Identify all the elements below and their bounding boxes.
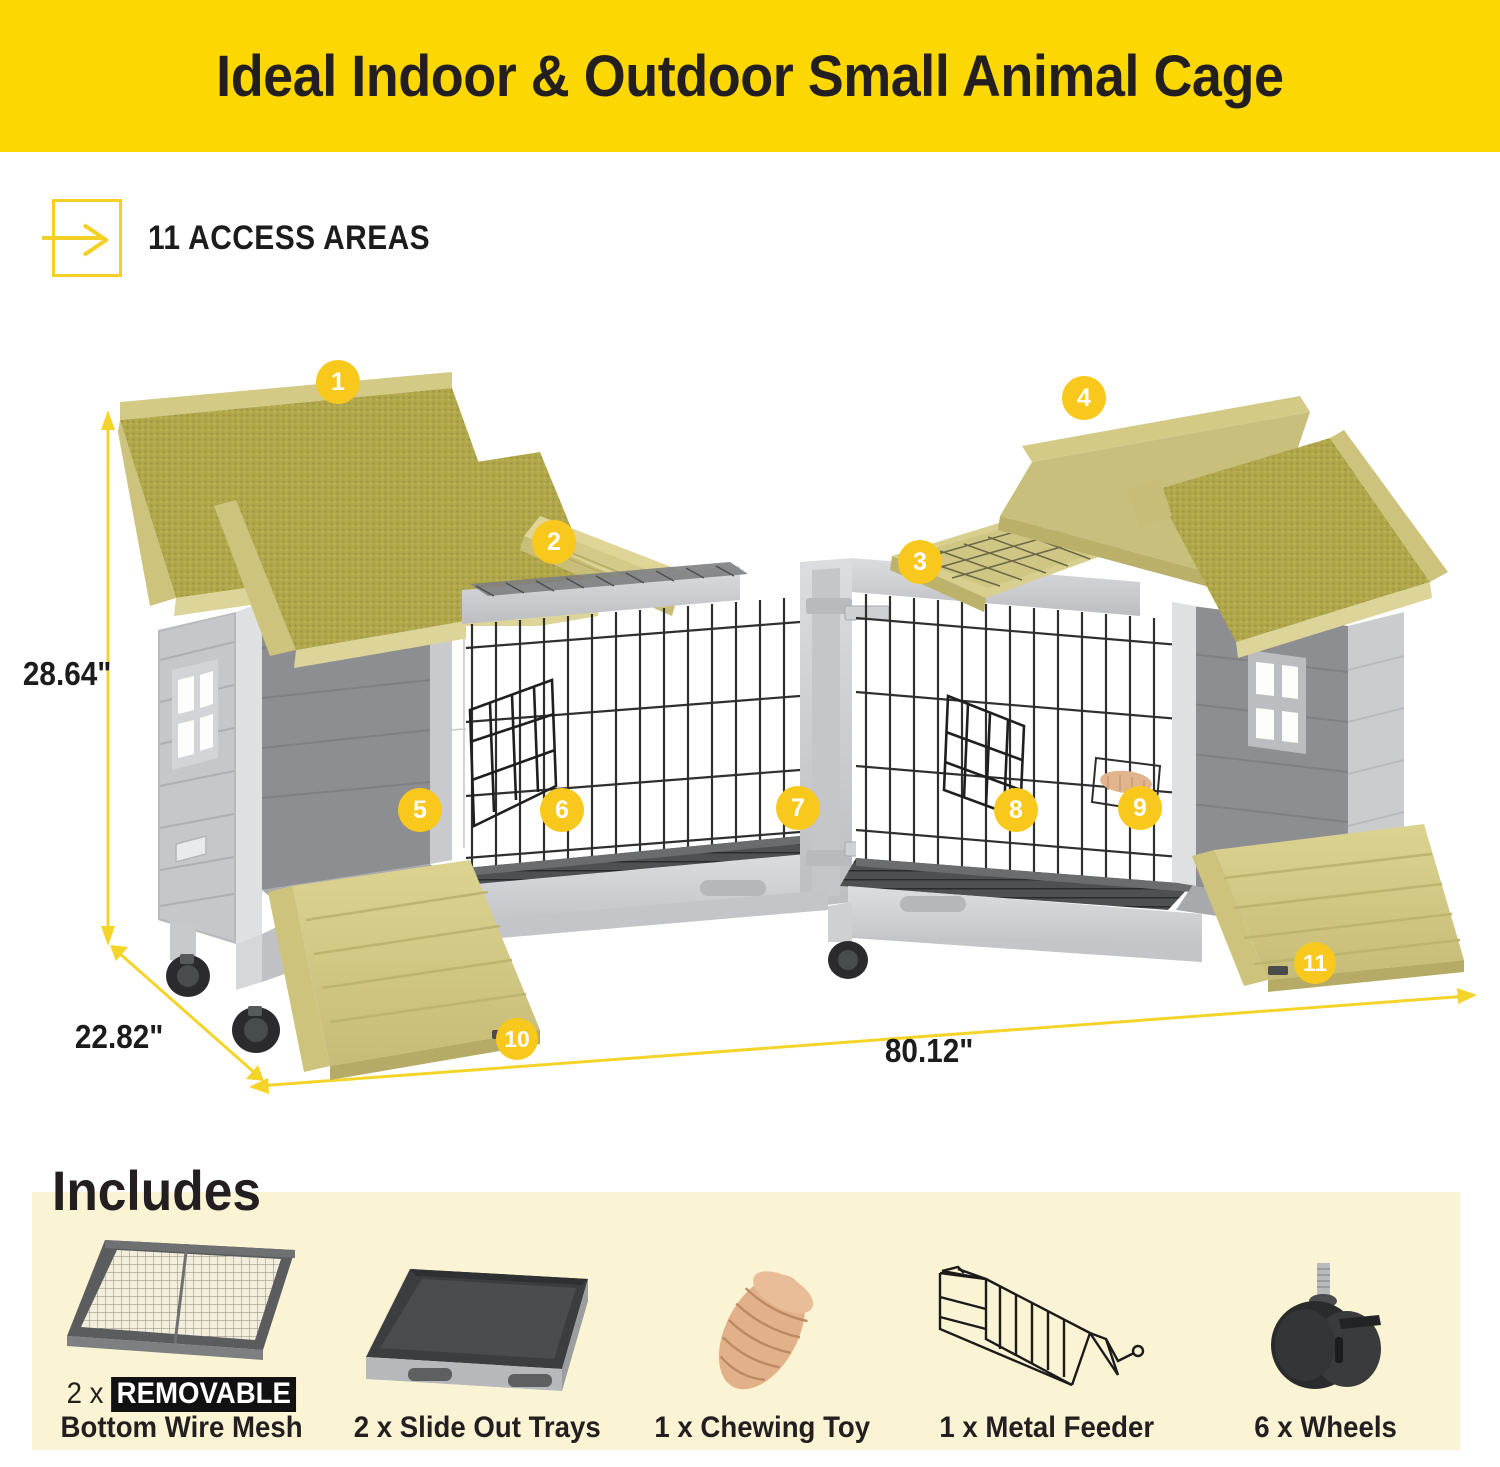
include-item-metal-feeder: 1 x Metal Feeder	[902, 1192, 1192, 1450]
includes-items: 2 x REMOVABLE Bottom Wire Mesh 2 x Slide…	[32, 1192, 1460, 1450]
access-areas-feature: 11 ACCESS AREAS	[42, 198, 469, 278]
arrow-head	[84, 221, 106, 255]
include-caption-slide-tray: 2 x Slide Out Trays	[354, 1412, 601, 1450]
badge-4[interactable]: 4	[1062, 376, 1106, 420]
include-item-slide-tray: 2 x Slide Out Trays	[332, 1192, 622, 1450]
badge-3[interactable]: 3	[898, 540, 942, 584]
caster-wheel	[232, 1006, 280, 1053]
badge-9[interactable]: 9	[1118, 786, 1162, 830]
page-title: Ideal Indoor & Outdoor Small Animal Cage	[216, 43, 1283, 110]
dimension-width: 80.12"	[885, 1032, 973, 1070]
right-window	[1248, 650, 1306, 754]
caster-wheel-icon	[1231, 1257, 1421, 1412]
badge-1[interactable]: 1	[316, 360, 360, 404]
enter-arrow-icon	[42, 199, 122, 277]
slide-out-tray-icon	[352, 1257, 602, 1412]
badge-2[interactable]: 2	[532, 520, 576, 564]
badge-10[interactable]: 10	[496, 1018, 538, 1060]
include-item-wheels: 6 x Wheels	[1192, 1192, 1460, 1450]
metal-feeder-icon	[922, 1257, 1172, 1412]
badge-11[interactable]: 11	[1294, 942, 1336, 984]
infographic-page: Ideal Indoor & Outdoor Small Animal Cage…	[0, 0, 1500, 1467]
left-window	[172, 659, 218, 770]
include-caption-wheels: 6 x Wheels	[1255, 1412, 1398, 1450]
include-caption-wire-mesh: 2 x REMOVABLE Bottom Wire Mesh	[61, 1377, 303, 1450]
include-caption-chewing-toy: 1 x Chewing Toy	[654, 1412, 870, 1450]
caster-wheel	[828, 941, 868, 979]
access-areas-label: 11 ACCESS AREAS	[148, 219, 430, 258]
dimension-height: 28.64"	[23, 655, 111, 693]
left-run	[454, 562, 828, 942]
badge-7[interactable]: 7	[776, 786, 820, 830]
badge-5[interactable]: 5	[398, 788, 442, 832]
wire-mesh-tray-icon	[57, 1232, 307, 1377]
wire-mesh-label: Bottom Wire Mesh	[61, 1411, 303, 1444]
right-run	[840, 558, 1202, 962]
product-illustration: 1 2 3 4 5 6 7 8 9 10 11	[0, 330, 1500, 1120]
chewing-toy-icon	[667, 1257, 857, 1412]
include-item-chewing-toy: 1 x Chewing Toy	[622, 1192, 902, 1450]
include-item-wire-mesh: 2 x REMOVABLE Bottom Wire Mesh	[32, 1192, 332, 1450]
badge-8[interactable]: 8	[994, 788, 1038, 832]
includes-title: Includes	[52, 1158, 261, 1223]
badge-6[interactable]: 6	[540, 788, 584, 832]
hutch-drawing	[0, 330, 1500, 1120]
header-banner: Ideal Indoor & Outdoor Small Animal Cage	[0, 0, 1500, 152]
dimension-depth: 22.82"	[75, 1018, 163, 1056]
include-caption-metal-feeder: 1 x Metal Feeder	[940, 1412, 1155, 1450]
wire-mesh-qty: 2 x	[67, 1377, 104, 1410]
removable-chip: REMOVABLE	[112, 1377, 297, 1411]
